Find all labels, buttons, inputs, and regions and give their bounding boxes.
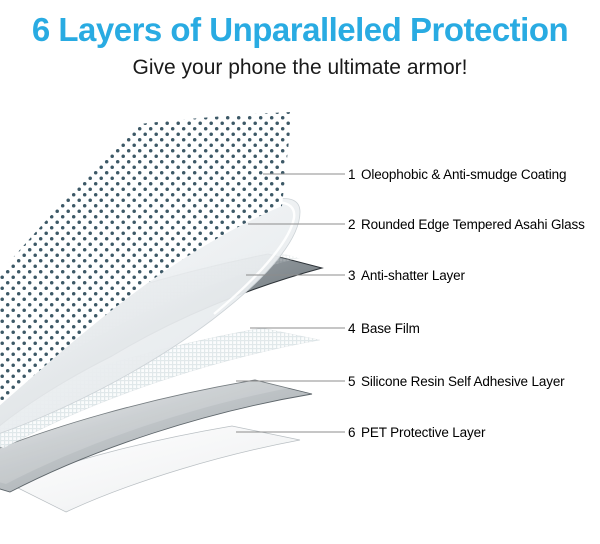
layer-label-6-text: PET Protective Layer	[361, 425, 485, 440]
layer-label-2[interactable]: 2 Rounded Edge Tempered Asahi Glass	[348, 215, 585, 233]
layer-label-1-number: 1	[348, 167, 361, 182]
page-subtitle: Give your phone the ultimate armor!	[0, 50, 600, 82]
layer-stack-illustration	[0, 88, 600, 544]
layer-label-5-number: 5	[348, 374, 361, 389]
layer-label-3-number: 3	[348, 268, 361, 283]
layer-label-2-text: Rounded Edge Tempered Asahi Glass	[361, 217, 585, 232]
layer-label-4-number: 4	[348, 321, 361, 336]
layer-label-1-text: Oleophobic & Anti-smudge Coating	[361, 167, 566, 182]
header: 6 Layers of Unparalleled Protection Give…	[0, 0, 600, 82]
layer-label-4-text: Base Film	[361, 321, 420, 336]
infographic-root: 6 Layers of Unparalleled Protection Give…	[0, 0, 600, 544]
layer-label-3-text: Anti-shatter Layer	[361, 268, 465, 283]
layer-label-6[interactable]: 6 PET Protective Layer	[348, 423, 485, 441]
layer-label-6-number: 6	[348, 425, 361, 440]
layer-label-5[interactable]: 5 Silicone Resin Self Adhesive Layer	[348, 372, 565, 390]
layer-label-5-text: Silicone Resin Self Adhesive Layer	[361, 374, 565, 389]
page-title: 6 Layers of Unparalleled Protection	[0, 0, 600, 50]
layer-label-2-number: 2	[348, 217, 361, 232]
layer-label-3[interactable]: 3 Anti-shatter Layer	[348, 266, 465, 284]
layer-label-4[interactable]: 4 Base Film	[348, 319, 420, 337]
layer-label-1[interactable]: 1 Oleophobic & Anti-smudge Coating	[348, 165, 566, 183]
